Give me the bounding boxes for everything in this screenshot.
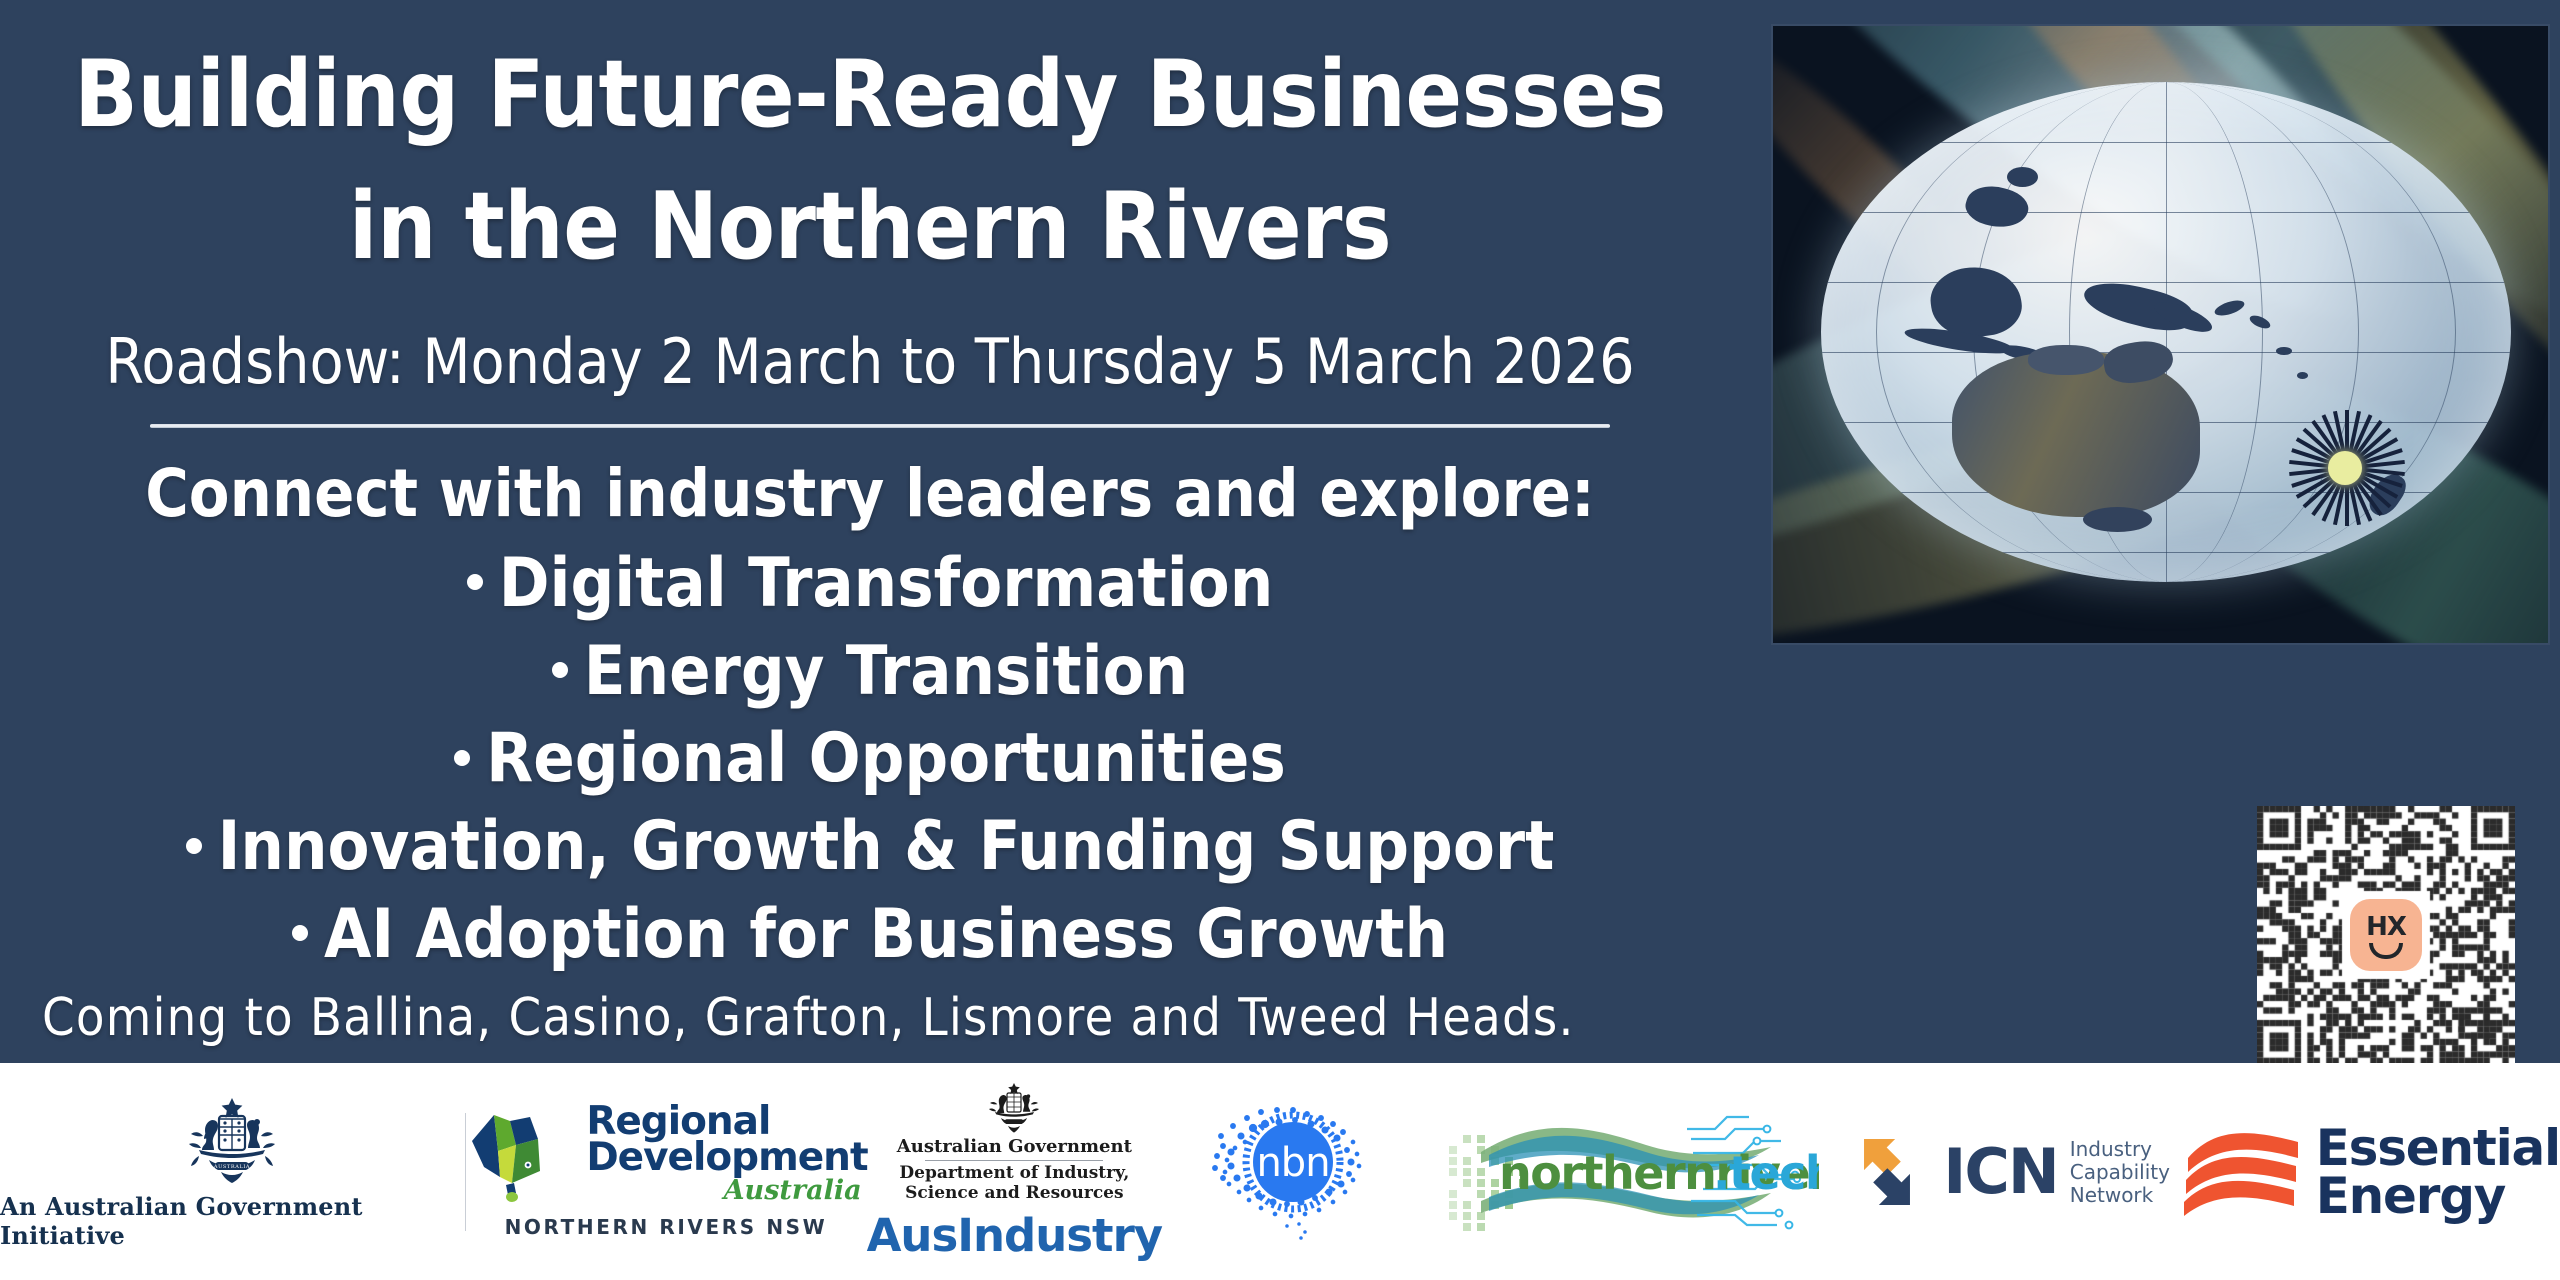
icn-lockup: ICN Industry Capability Network	[1841, 1126, 2170, 1218]
ausindustry-gov-line: Australian Government	[897, 1136, 1132, 1157]
commonwealth-coat-of-arms-icon: AUSTRALIA	[169, 1094, 295, 1186]
northernrivers-tech-mark: northernrivers .tech	[1441, 1097, 1819, 1247]
ee-line-2: Energy	[2316, 1172, 2560, 1220]
list-item-label: AI Adoption for Business Growth	[324, 895, 1448, 974]
banner-divider	[150, 424, 1610, 428]
essential-energy-wordmark: Essential Energy	[2316, 1124, 2560, 1220]
banner-lead-line: Connect with industry leaders and explor…	[0, 455, 1740, 532]
ee-line-1: Essential	[2316, 1124, 2560, 1172]
ausindustry-rule	[925, 1160, 1103, 1161]
qr-badge-text: HX	[2366, 914, 2406, 940]
location-starburst-icon	[2283, 406, 2407, 530]
list-item-label: Innovation, Growth & Funding Support	[218, 807, 1555, 886]
logo-essential-energy: Essential Energy	[2184, 1063, 2560, 1280]
nrt-word-blue: .tech	[1713, 1146, 1819, 1200]
rda-line-2: Development	[586, 1140, 867, 1177]
icn-wordmark: ICN	[1943, 1141, 2057, 1203]
bullet-dot-icon	[454, 750, 470, 766]
rda-wordmark: Regional Development Australia	[586, 1104, 867, 1204]
banner-title-line-1: Building Future-Ready Businesses	[0, 48, 1740, 141]
icn-subtitle-line-1: Industry	[2070, 1138, 2170, 1161]
logo-australian-government: AUSTRALIA An Australian Government Initi…	[0, 1063, 465, 1280]
essential-energy-lockup: Essential Energy	[2184, 1124, 2560, 1220]
bullet-dot-icon	[467, 574, 483, 590]
logo-regional-development-australia: Regional Development Australia NORTHERN …	[466, 1063, 866, 1280]
smile-icon	[2369, 943, 2403, 959]
rda-script-australia: Australia	[724, 1178, 862, 1203]
partner-logo-bar: AUSTRALIA An Australian Government Initi…	[0, 1063, 2560, 1280]
qr-code[interactable]: HX	[2257, 806, 2515, 1064]
rda-region-label: NORTHERN RIVERS NSW	[505, 1215, 828, 1239]
list-item: Regional Opportunities	[0, 715, 1740, 803]
svg-text:AUSTRALIA: AUSTRALIA	[213, 1164, 250, 1170]
list-item-label: Regional Opportunities	[486, 719, 1286, 798]
ausindustry-dept-line-1: Department of Industry,	[899, 1164, 1129, 1184]
bullet-dot-icon	[292, 925, 308, 941]
list-item: Digital Transformation	[0, 540, 1740, 628]
banner-text-column: Building Future-Ready Businesses in the …	[0, 0, 1760, 1063]
ausindustry-dept-line-2: Science and Resources	[905, 1184, 1123, 1204]
banner-locations-line: Coming to Ballina, Casino, Grafton, Lism…	[42, 988, 1742, 1048]
list-item-label: Energy Transition	[584, 632, 1188, 711]
australia-map-icon	[464, 1105, 576, 1203]
logo-ausindustry: Australian Government Department of Indu…	[866, 1063, 1163, 1280]
list-item-label: Digital Transformation	[499, 544, 1274, 623]
ausindustry-wordmark: AusIndustry	[867, 1209, 1163, 1262]
logo-australian-government-caption: An Australian Government Initiative	[0, 1192, 465, 1250]
logo-northernrivers-tech: northernrivers .tech	[1432, 1063, 1828, 1280]
icn-subtitle-line-2: Capability	[2070, 1161, 2170, 1184]
starburst-core	[2328, 451, 2362, 485]
bullet-dot-icon	[552, 662, 568, 678]
banner-date-line: Roadshow: Monday 2 March to Thursday 5 M…	[0, 325, 1740, 398]
commonwealth-coat-of-arms-icon	[979, 1081, 1049, 1133]
bullet-dot-icon	[186, 838, 202, 854]
globe-graphic	[1821, 82, 2511, 582]
banner-topic-list: Digital Transformation Energy Transition…	[0, 540, 1740, 979]
rda-lockup: Regional Development Australia	[464, 1104, 867, 1204]
list-item: AI Adoption for Business Growth	[0, 891, 1740, 979]
hero-globe-image	[1773, 26, 2548, 643]
essential-energy-waves-icon	[2184, 1124, 2302, 1220]
logo-icn: ICN Industry Capability Network	[1828, 1063, 2184, 1280]
qr-code-badge: HX	[2350, 899, 2422, 971]
icn-subtitle: Industry Capability Network	[2070, 1138, 2170, 1208]
icn-cycle-arrows-icon	[1841, 1126, 1933, 1218]
event-banner: Building Future-Ready Businesses in the …	[0, 0, 2560, 1280]
nbn-dotted-australia-icon: nbn	[1201, 1096, 1393, 1248]
banner-title-line-2: in the Northern Rivers	[0, 180, 1740, 273]
list-item: Energy Transition	[0, 628, 1740, 716]
icn-subtitle-line-3: Network	[2070, 1184, 2170, 1207]
list-item: Innovation, Growth & Funding Support	[0, 803, 1740, 891]
nbn-wordmark: nbn	[1257, 1140, 1330, 1186]
logo-nbn: nbn	[1163, 1063, 1432, 1280]
